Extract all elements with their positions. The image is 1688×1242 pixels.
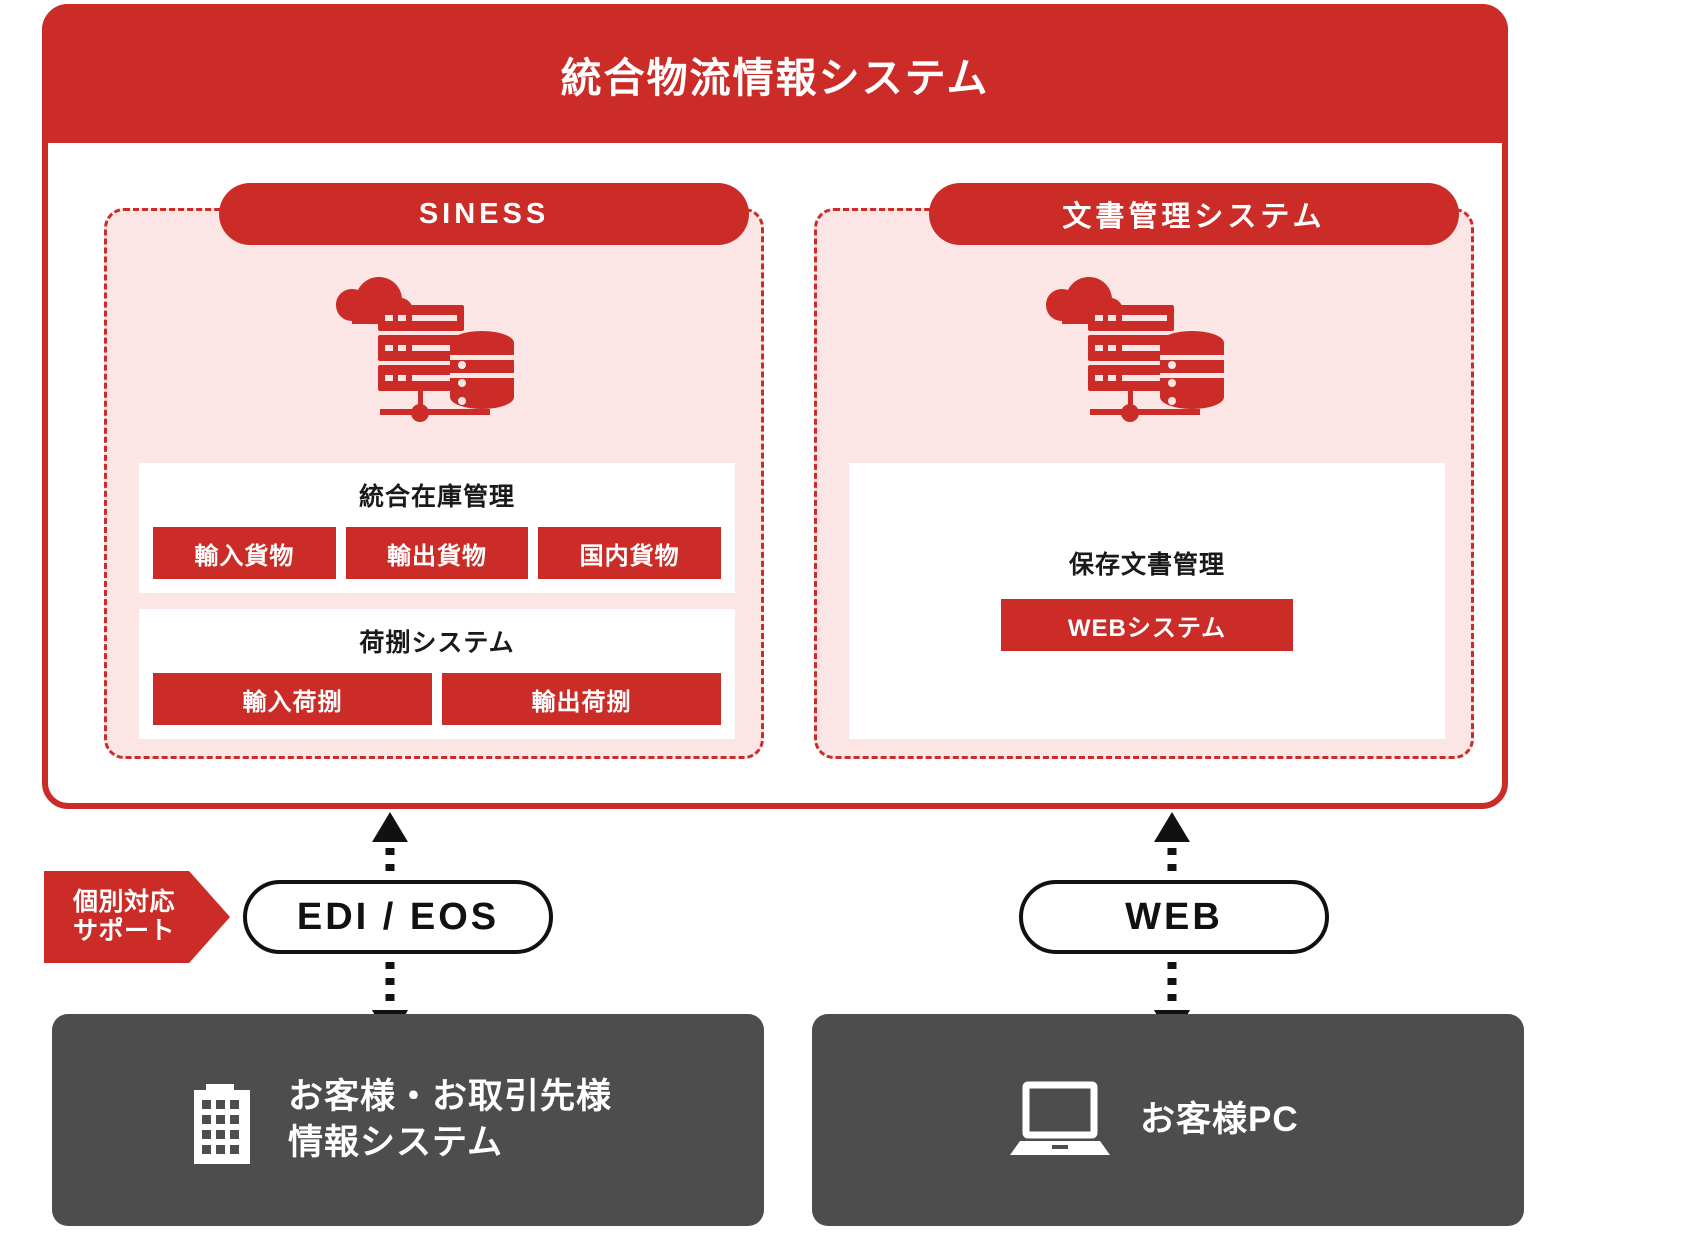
group-title-stored-document: 保存文書管理 [849, 545, 1445, 581]
support-flag-line-1: 個別対応 [73, 888, 175, 918]
page-title: 統合物流情報システム [561, 44, 990, 104]
endpoint-customer-information-system-text: お客様・お取引先様 情報システム [288, 1074, 612, 1166]
chip-row-cargo-handling: 輸入荷捌 輸出荷捌 [153, 673, 721, 725]
endpoint-customer-information-system: お客様・お取引先様 情報システム [52, 1014, 764, 1226]
endpoint-line-1: お客様・お取引先様 [288, 1074, 612, 1120]
group-box-cargo-handling: 荷捌システム 輸入荷捌 輸出荷捌 [139, 609, 735, 739]
system-header: 統合物流情報システム [42, 4, 1508, 143]
endpoint-customer-pc-text: お客様PC [1140, 1097, 1299, 1143]
chip-row-integrated-inventory: 輸入貨物 輸出貨物 国内貨物 [153, 527, 721, 579]
chip-export-handling[interactable]: 輸出荷捌 [442, 673, 721, 725]
connector-arrow-up-edi [370, 812, 410, 884]
support-flag-badge: 個別対応 サポート [44, 871, 230, 963]
group-title-cargo-handling: 荷捌システム [153, 623, 721, 659]
endpoint-line-2: 情報システム [288, 1120, 612, 1166]
channel-web[interactable]: WEB [1019, 880, 1329, 954]
panel-document-management-header: 文書管理システム [929, 183, 1459, 245]
chip-import-cargo[interactable]: 輸入貨物 [153, 527, 336, 579]
panel-siness: SINESS [104, 208, 764, 759]
building-icon [186, 1076, 258, 1164]
channel-edi-eos[interactable]: EDI / EOS [243, 880, 553, 954]
group-title-integrated-inventory: 統合在庫管理 [153, 477, 721, 513]
panel-document-management-title: 文書管理システム [1062, 193, 1325, 235]
group-box-integrated-inventory: 統合在庫管理 輸入貨物 輸出貨物 国内貨物 [139, 463, 735, 593]
laptop-icon [1010, 1081, 1110, 1159]
panel-document-management: 文書管理システム [814, 208, 1474, 759]
channel-edi-eos-label: EDI / EOS [297, 896, 499, 939]
chip-domestic-cargo[interactable]: 国内貨物 [538, 527, 721, 579]
connector-arrow-up-web [1152, 812, 1192, 884]
endpoint-customer-pc: お客様PC [812, 1014, 1524, 1226]
chip-import-handling[interactable]: 輸入荷捌 [153, 673, 432, 725]
channel-web-label: WEB [1125, 896, 1223, 939]
endpoint-line-1: お客様PC [1140, 1097, 1299, 1143]
cloud-server-database-icon [1040, 271, 1248, 431]
chip-web-system[interactable]: WEBシステム [1001, 599, 1293, 651]
chip-export-cargo[interactable]: 輸出貨物 [346, 527, 529, 579]
diagram-canvas: 統合物流情報システム SINESS [0, 0, 1688, 1242]
panel-siness-header: SINESS [219, 183, 749, 245]
support-flag-line-2: サポート [73, 917, 175, 947]
integrated-logistics-system-frame: 統合物流情報システム SINESS [42, 4, 1508, 809]
cloud-server-database-icon [330, 271, 538, 431]
group-box-stored-document: 保存文書管理 WEBシステム [849, 463, 1445, 739]
panel-siness-title: SINESS [419, 198, 549, 231]
